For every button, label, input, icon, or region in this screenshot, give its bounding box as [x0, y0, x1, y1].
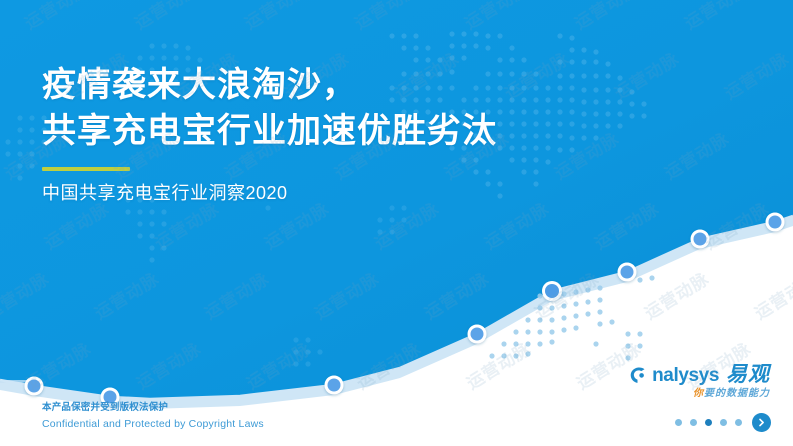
chart-marker-3 — [328, 379, 341, 392]
footer-copyright-en: Confidential and Protected by Copyright … — [42, 417, 264, 432]
chart-marker-1 — [28, 380, 41, 393]
analysys-wordmark: nalysys — [652, 366, 719, 385]
chart-marker-5 — [545, 284, 559, 298]
chart-marker-8 — [769, 216, 782, 229]
pager-dot-4[interactable] — [720, 419, 727, 426]
chevron-right-icon — [757, 418, 766, 427]
analysys-logo: nalysys 易观 你要的数据能力 — [630, 364, 770, 400]
title-line-2: 共享充电宝行业加速优胜劣汰 — [42, 108, 742, 154]
footer-copyright: 本产品保密并受到版权法保护 Confidential and Protected… — [42, 400, 264, 432]
tagline-highlight: 你 — [693, 388, 704, 399]
footer-copyright-cn: 本产品保密并受到版权法保护 — [42, 400, 264, 415]
analysys-wordmark-cn: 易观 — [726, 364, 770, 385]
pager-dot-5[interactable] — [735, 419, 742, 426]
chart-marker-6 — [621, 266, 634, 279]
slide-pager[interactable] — [675, 413, 771, 432]
title-divider-rule — [42, 167, 130, 171]
analysys-tagline: 你要的数据能力 — [630, 388, 770, 400]
tagline-rest: 要的数据能力 — [704, 388, 770, 399]
pager-dot-1[interactable] — [675, 419, 682, 426]
chart-marker-4 — [471, 328, 484, 341]
subtitle: 中国共享充电宝行业洞察2020 — [42, 181, 742, 205]
pager-dot-3[interactable] — [705, 419, 712, 426]
analysys-mark-icon — [630, 366, 647, 385]
chart-marker-7 — [694, 233, 707, 246]
next-slide-button[interactable] — [752, 413, 771, 432]
title-block: 疫情袭来大浪淘沙， 共享充电宝行业加速优胜劣汰 中国共享充电宝行业洞察2020 — [42, 62, 742, 205]
presentation-slide: 疫情袭来大浪淘沙， 共享充电宝行业加速优胜劣汰 中国共享充电宝行业洞察2020 … — [0, 0, 793, 446]
title-line-1: 疫情袭来大浪淘沙， — [42, 62, 742, 108]
pager-dot-2[interactable] — [690, 419, 697, 426]
